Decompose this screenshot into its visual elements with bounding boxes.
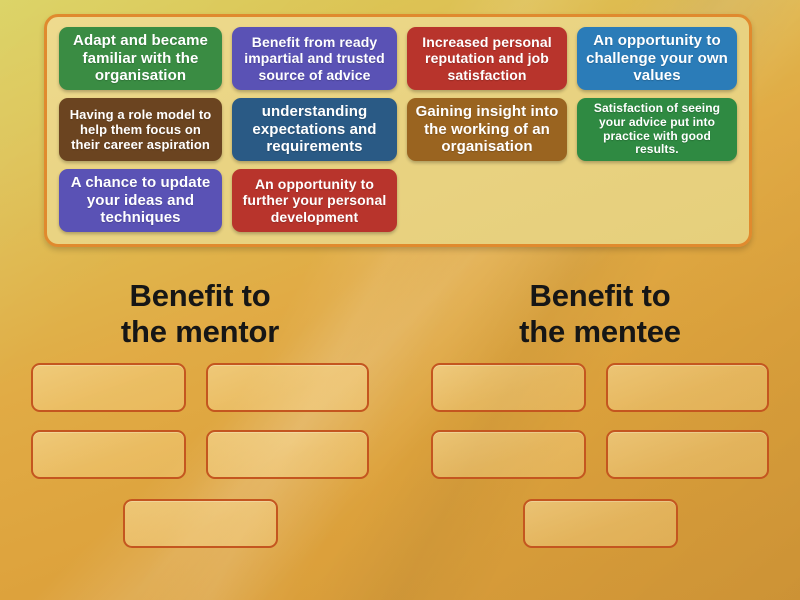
draggable-tile[interactable]: An opportunity to further your personal … xyxy=(232,169,397,232)
draggable-tile[interactable]: Gaining insight into the working of an o… xyxy=(407,98,567,161)
tile-label: understanding expectations and requireme… xyxy=(240,103,389,155)
column-title-line1: Benefit to xyxy=(121,278,279,314)
drop-slot[interactable] xyxy=(431,430,586,479)
drop-slot[interactable] xyxy=(123,499,278,548)
column-title-line1: Benefit to xyxy=(519,278,681,314)
drop-slot[interactable] xyxy=(523,499,678,548)
drop-slot[interactable] xyxy=(206,363,369,412)
sort-columns: Benefit to the mentor Benefit to the men… xyxy=(0,262,800,548)
draggable-tile[interactable]: Having a role model to help them focus o… xyxy=(59,98,222,161)
draggable-tile[interactable]: Satisfaction of seeing your advice put i… xyxy=(577,98,737,161)
tile-label: Benefit from ready impartial and trusted… xyxy=(240,34,389,83)
drop-slots-mentee xyxy=(420,363,780,548)
sort-column-mentee: Benefit to the mentee xyxy=(400,262,800,548)
drop-slots-mentor xyxy=(20,363,380,548)
tile-label: A chance to update your ideas and techni… xyxy=(67,174,214,226)
column-title-mentor: Benefit to the mentor xyxy=(121,278,279,349)
drop-slot[interactable] xyxy=(206,430,369,479)
draggable-tile[interactable]: Benefit from ready impartial and trusted… xyxy=(232,27,397,90)
draggable-tile[interactable]: understanding expectations and requireme… xyxy=(232,98,397,161)
drop-slot[interactable] xyxy=(606,363,769,412)
tile-label: An opportunity to further your personal … xyxy=(240,176,389,225)
draggable-tile[interactable]: Increased personal reputation and job sa… xyxy=(407,27,567,90)
tile-label: Satisfaction of seeing your advice put i… xyxy=(585,102,729,158)
tile-label: Increased personal reputation and job sa… xyxy=(415,34,559,83)
drop-slot[interactable] xyxy=(31,363,186,412)
column-title-line2: the mentor xyxy=(121,314,279,350)
tile-label: Having a role model to help them focus o… xyxy=(67,107,214,152)
drop-slot[interactable] xyxy=(431,363,586,412)
tile-row-1: Adapt and became familiar with the organ… xyxy=(59,27,737,90)
tile-label: An opportunity to challenge your own val… xyxy=(585,32,729,84)
tile-row-3: A chance to update your ideas and techni… xyxy=(59,169,737,232)
tile-row-2: Having a role model to help them focus o… xyxy=(59,98,737,161)
word-tile-tray: Adapt and became familiar with the organ… xyxy=(44,14,752,247)
tile-label: Gaining insight into the working of an o… xyxy=(415,103,559,155)
drop-slot[interactable] xyxy=(606,430,769,479)
draggable-tile[interactable]: Adapt and became familiar with the organ… xyxy=(59,27,222,90)
draggable-tile[interactable]: A chance to update your ideas and techni… xyxy=(59,169,222,232)
column-title-mentee: Benefit to the mentee xyxy=(519,278,681,349)
tile-rows: Adapt and became familiar with the organ… xyxy=(59,27,737,232)
column-title-line2: the mentee xyxy=(519,314,681,350)
tile-label: Adapt and became familiar with the organ… xyxy=(67,32,214,84)
draggable-tile[interactable]: An opportunity to challenge your own val… xyxy=(577,27,737,90)
drop-slot[interactable] xyxy=(31,430,186,479)
sort-column-mentor: Benefit to the mentor xyxy=(0,262,400,548)
